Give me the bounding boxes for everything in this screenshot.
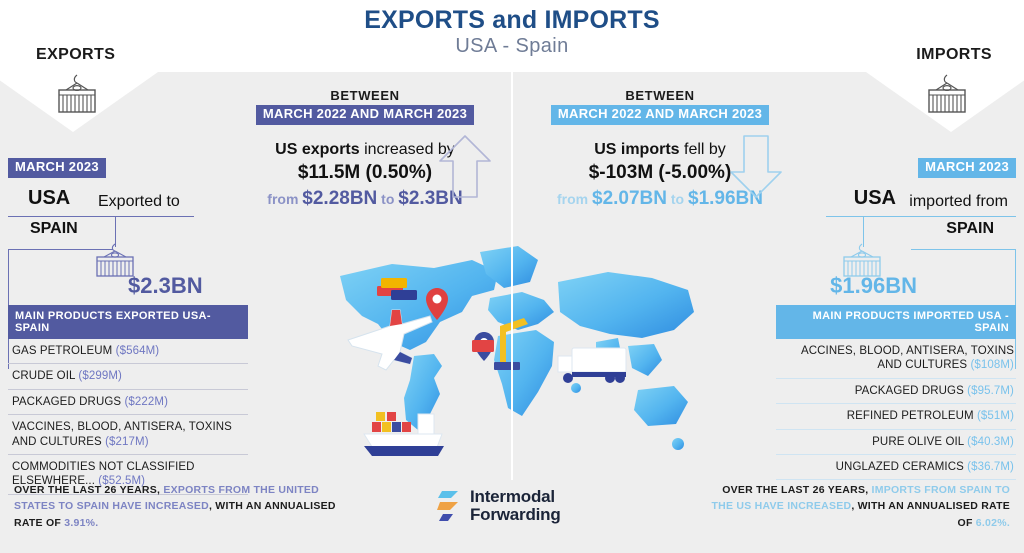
exports-note-part1: OVER THE LAST 26 YEARS, bbox=[14, 484, 163, 496]
page-subtitle: USA - Spain bbox=[0, 35, 1024, 58]
logo-line-2: Forwarding bbox=[470, 506, 561, 524]
product-name: PACKAGED DRUGS bbox=[855, 385, 964, 397]
imports-date-range-badge: MARCH 2022 AND MARCH 2023 bbox=[551, 105, 769, 125]
imports-table-header: MAIN PRODUCTS IMPORTED USA - SPAIN bbox=[776, 305, 1016, 339]
imports-source-country: SPAIN bbox=[946, 220, 994, 238]
product-name: GAS PETROLEUM bbox=[12, 345, 112, 357]
exports-products-table: MAIN PRODUCTS EXPORTED USA-SPAIN GAS PET… bbox=[8, 305, 248, 495]
exports-date-range-badge: MARCH 2022 AND MARCH 2023 bbox=[256, 105, 474, 125]
imports-total-amount: $1.96BN bbox=[830, 273, 917, 299]
product-value: ($40.3M) bbox=[967, 436, 1014, 448]
exports-container-icon bbox=[48, 74, 106, 125]
table-row: PACKAGED DRUGS ($222M) bbox=[8, 390, 248, 415]
imports-stat-to-label: to bbox=[667, 191, 688, 207]
title-conjunction: and bbox=[485, 6, 544, 34]
imports-period-badge: MARCH 2023 bbox=[918, 158, 1016, 178]
arrow-down-icon bbox=[728, 134, 784, 205]
imports-note-rate: 6.02%. bbox=[976, 517, 1010, 529]
title-exports: EXPORTS bbox=[364, 6, 485, 34]
imports-between-label: BETWEEN bbox=[510, 88, 810, 103]
exports-destination-country: SPAIN bbox=[30, 220, 78, 238]
imports-stat-subject: US imports bbox=[594, 141, 679, 158]
table-row: GAS PETROLEUM ($564M) bbox=[8, 339, 248, 364]
imports-origin-country: USA bbox=[854, 187, 896, 210]
exports-stat-from-label: from bbox=[267, 191, 302, 207]
table-row: PURE OLIVE OIL ($40.3M) bbox=[776, 430, 1016, 455]
exports-total-amount: $2.3BN bbox=[128, 273, 203, 299]
imports-stat-verb: fell by bbox=[680, 141, 726, 158]
logo-line-1: Intermodal bbox=[470, 488, 561, 506]
imports-stat-from-label: from bbox=[557, 191, 592, 207]
product-name: PACKAGED DRUGS bbox=[12, 396, 121, 408]
table-row: PACKAGED DRUGS ($95.7M) bbox=[776, 379, 1016, 404]
table-row: UNGLAZED CERAMICS ($36.7M) bbox=[776, 455, 1016, 480]
imports-products-table: MAIN PRODUCTS IMPORTED USA - SPAIN ACCIN… bbox=[776, 305, 1016, 480]
product-value: ($564M) bbox=[116, 345, 160, 357]
page-title: EXPORTS and IMPORTS USA - Spain bbox=[0, 6, 1024, 58]
product-name: CRUDE OIL bbox=[12, 370, 75, 382]
product-value: ($36.7M) bbox=[967, 461, 1014, 473]
cargo-ship-icon bbox=[364, 412, 444, 456]
exports-stat-subject: US exports bbox=[275, 141, 359, 158]
table-row: ACCINES, BLOOD, ANTISERA, TOXINS AND CUL… bbox=[776, 339, 1016, 379]
exports-relation-label: Exported to bbox=[98, 193, 180, 211]
arrow-up-icon bbox=[437, 134, 493, 205]
table-row: REFINED PETROLEUM ($51M) bbox=[776, 404, 1016, 429]
imports-note-part1: OVER THE LAST 26 YEARS, bbox=[722, 484, 871, 496]
truck-icon bbox=[558, 348, 626, 383]
product-value: ($95.7M) bbox=[967, 385, 1014, 397]
product-value: ($108M) bbox=[970, 359, 1014, 371]
product-name: UNGLAZED CERAMICS bbox=[836, 461, 964, 473]
table-row: CRUDE OIL ($299M) bbox=[8, 364, 248, 389]
infographic-canvas: EXPORTS and IMPORTS USA - Spain EXPORTS … bbox=[0, 0, 1024, 553]
imports-container-icon bbox=[918, 74, 976, 125]
exports-footer-note: OVER THE LAST 26 YEARS, EXPORTS FROM THE… bbox=[14, 482, 354, 531]
brand-logo[interactable]: Intermodal Forwarding bbox=[436, 488, 561, 525]
table-row: VACCINES, BLOOD, ANTISERA, TOXINS AND CU… bbox=[8, 415, 248, 455]
exports-period-badge: MARCH 2023 bbox=[8, 158, 106, 178]
imports-stat-from-value: $2.07BN bbox=[592, 188, 667, 209]
intermodal-forwarding-logo-mark bbox=[436, 489, 462, 523]
product-value: ($222M) bbox=[124, 396, 168, 408]
exports-change-stat: BETWEEN MARCH 2022 AND MARCH 2023 US exp… bbox=[215, 88, 515, 210]
product-name: PURE OLIVE OIL bbox=[872, 436, 964, 448]
title-imports: IMPORTS bbox=[544, 6, 659, 34]
imports-footer-note: OVER THE LAST 26 YEARS, IMPORTS FROM SPA… bbox=[700, 482, 1010, 531]
imports-change-stat: BETWEEN MARCH 2022 AND MARCH 2023 US imp… bbox=[510, 88, 810, 210]
exports-stat-from-value: $2.28BN bbox=[302, 188, 377, 209]
exports-origin-country: USA bbox=[28, 187, 70, 210]
product-name: REFINED PETROLEUM bbox=[847, 410, 974, 422]
product-value: ($217M) bbox=[105, 436, 149, 448]
imports-relation-label: imported from bbox=[909, 193, 1008, 211]
exports-stat-to-label: to bbox=[377, 191, 398, 207]
exports-table-header: MAIN PRODUCTS EXPORTED USA-SPAIN bbox=[8, 305, 248, 339]
product-value: ($299M) bbox=[78, 370, 122, 382]
exports-note-rate: 3.91%. bbox=[64, 517, 98, 529]
product-value: ($51M) bbox=[977, 410, 1014, 422]
exports-between-label: BETWEEN bbox=[215, 88, 515, 103]
